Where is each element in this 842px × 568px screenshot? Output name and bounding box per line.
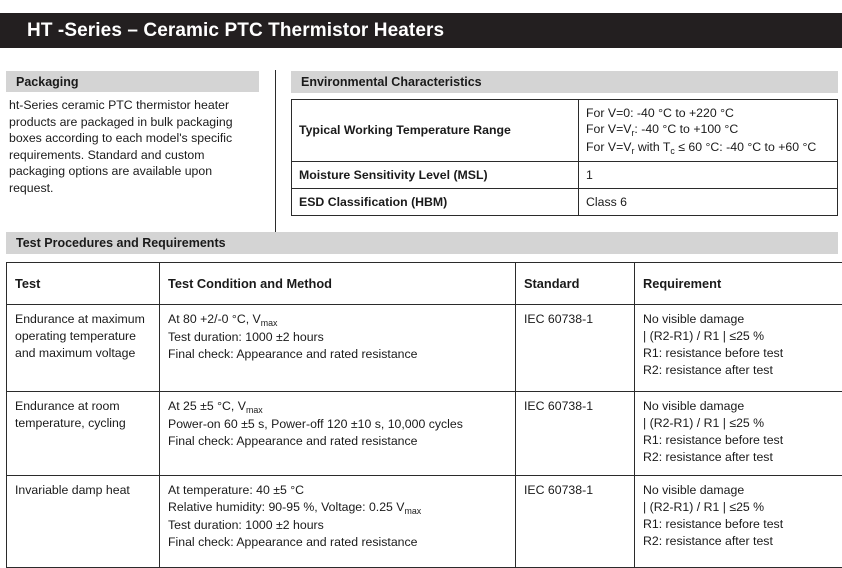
requirement-line: R1: resistance before test — [643, 345, 842, 362]
condition-line: At 80 +2/-0 °C, Vmax — [168, 311, 507, 329]
test-condition-cell: At temperature: 40 ±5 °C Relative humidi… — [160, 476, 516, 568]
test-requirement-cell: No visible damage | (R2-R1) / R1 | ≤25 %… — [635, 305, 842, 392]
table-row: Endurance at room temperature, cycling A… — [7, 392, 842, 476]
table-row: Typical Working Temperature Range For V=… — [292, 100, 838, 162]
requirement-line: R2: resistance after test — [643, 449, 842, 466]
column-header-test: Test — [7, 263, 160, 305]
condition-line: Power-on 60 ±5 s, Power-off 120 ±10 s, 1… — [168, 416, 507, 433]
requirement-line: | (R2-R1) / R1 | ≤25 % — [643, 499, 842, 516]
env-temp-line-2: For V=Vr: -40 °C to +100 °C — [586, 121, 830, 139]
env-temp-line-1: For V=0: -40 °C to +220 °C — [586, 105, 830, 122]
environmental-characteristics-table: Typical Working Temperature Range For V=… — [291, 99, 838, 216]
requirement-line: No visible damage — [643, 482, 842, 499]
column-divider — [275, 70, 276, 232]
table-row: Endurance at maximum operating temperatu… — [7, 305, 842, 392]
column-header-requirement: Requirement — [635, 263, 842, 305]
environmental-section-heading: Environmental Characteristics — [291, 71, 838, 93]
env-label-esd: ESD Classification (HBM) — [292, 189, 579, 216]
condition-line: Test duration: 1000 ±2 hours — [168, 329, 507, 346]
test-name-cell: Invariable damp heat — [7, 476, 160, 568]
column-header-standard: Standard — [516, 263, 635, 305]
table-row: Invariable damp heat At temperature: 40 … — [7, 476, 842, 568]
requirement-line: | (R2-R1) / R1 | ≤25 % — [643, 328, 842, 345]
condition-line: At 25 ±5 °C, Vmax — [168, 398, 507, 416]
column-header-condition: Test Condition and Method — [160, 263, 516, 305]
test-name-cell: Endurance at maximum operating temperatu… — [7, 305, 160, 392]
test-standard-cell: IEC 60738-1 — [516, 476, 635, 568]
requirement-line: R1: resistance before test — [643, 516, 842, 533]
test-procedures-table: Test Test Condition and Method Standard … — [6, 262, 842, 568]
test-standard-cell: IEC 60738-1 — [516, 392, 635, 476]
requirement-line: | (R2-R1) / R1 | ≤25 % — [643, 415, 842, 432]
test-condition-cell: At 25 ±5 °C, Vmax Power-on 60 ±5 s, Powe… — [160, 392, 516, 476]
table-row: Moisture Sensitivity Level (MSL) 1 — [292, 162, 838, 189]
requirement-line: No visible damage — [643, 311, 842, 328]
condition-line: Test duration: 1000 ±2 hours — [168, 517, 507, 534]
test-name-cell: Endurance at room temperature, cycling — [7, 392, 160, 476]
env-label-working-temperature: Typical Working Temperature Range — [292, 100, 579, 162]
requirement-line: R2: resistance after test — [643, 362, 842, 379]
test-requirement-cell: No visible damage | (R2-R1) / R1 | ≤25 %… — [635, 392, 842, 476]
condition-line: Final check: Appearance and rated resist… — [168, 534, 507, 551]
env-value-working-temperature: For V=0: -40 °C to +220 °C For V=Vr: -40… — [579, 100, 838, 162]
packaging-description: ht-Series ceramic PTC thermistor heater … — [9, 97, 257, 197]
env-value-esd: Class 6 — [579, 189, 838, 216]
env-temp-line-3: For V=Vr with Tc ≤ 60 °C: -40 °C to +60 … — [586, 139, 830, 157]
packaging-section-heading: Packaging — [6, 71, 259, 92]
test-standard-cell: IEC 60738-1 — [516, 305, 635, 392]
test-requirement-cell: No visible damage | (R2-R1) / R1 | ≤25 %… — [635, 476, 842, 568]
page-title: HT -Series – Ceramic PTC Thermistor Heat… — [27, 20, 444, 42]
env-label-msl: Moisture Sensitivity Level (MSL) — [292, 162, 579, 189]
requirement-line: R2: resistance after test — [643, 533, 842, 550]
condition-line: Final check: Appearance and rated resist… — [168, 346, 507, 363]
requirement-line: No visible damage — [643, 398, 842, 415]
page-title-banner: HT -Series – Ceramic PTC Thermistor Heat… — [0, 13, 842, 48]
test-section-heading: Test Procedures and Requirements — [6, 232, 838, 254]
condition-line: At temperature: 40 ±5 °C — [168, 482, 507, 499]
table-row: ESD Classification (HBM) Class 6 — [292, 189, 838, 216]
test-condition-cell: At 80 +2/-0 °C, Vmax Test duration: 1000… — [160, 305, 516, 392]
table-header-row: Test Test Condition and Method Standard … — [7, 263, 842, 305]
env-value-msl: 1 — [579, 162, 838, 189]
condition-line: Relative humidity: 90-95 %, Voltage: 0.2… — [168, 499, 507, 517]
condition-line: Final check: Appearance and rated resist… — [168, 433, 507, 450]
requirement-line: R1: resistance before test — [643, 432, 842, 449]
